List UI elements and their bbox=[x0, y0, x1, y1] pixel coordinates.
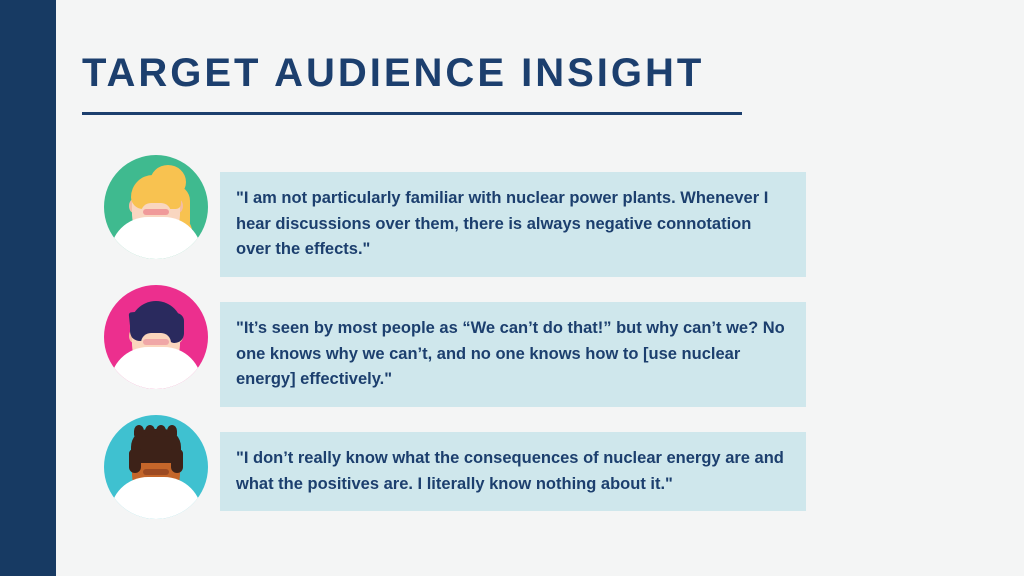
quote-text: "It’s seen by most people as “We can’t d… bbox=[236, 316, 790, 393]
quote-text: "I don’t really know what the consequenc… bbox=[236, 446, 790, 497]
avatar bbox=[104, 415, 208, 519]
hair-tuft-shape bbox=[145, 425, 155, 437]
quote-box: "I am not particularly familiar with nuc… bbox=[220, 172, 806, 277]
slide-canvas: TARGET AUDIENCE INSIGHT bbox=[0, 0, 1024, 576]
collar-shape bbox=[143, 339, 169, 345]
quote-box: "I don’t really know what the consequenc… bbox=[220, 432, 806, 511]
quote-row: "I am not particularly familiar with nuc… bbox=[0, 155, 1024, 285]
page-title: TARGET AUDIENCE INSIGHT bbox=[82, 52, 742, 94]
avatar bbox=[104, 155, 208, 259]
hair-tuft-shape bbox=[134, 425, 144, 437]
quote-list: "I am not particularly familiar with nuc… bbox=[0, 155, 1024, 545]
title-underline-rule bbox=[82, 112, 742, 115]
quote-box: "It’s seen by most people as “We can’t d… bbox=[220, 302, 806, 407]
quote-text: "I am not particularly familiar with nuc… bbox=[236, 186, 790, 263]
quote-row: "I don’t really know what the consequenc… bbox=[0, 415, 1024, 545]
avatar-dark-hair-woman-icon bbox=[104, 285, 208, 389]
shirt-shape bbox=[110, 347, 202, 389]
collar-shape bbox=[143, 209, 169, 215]
avatar bbox=[104, 285, 208, 389]
hair-side-shape bbox=[168, 313, 184, 343]
avatar-blonde-woman-icon bbox=[104, 155, 208, 259]
hair-tuft-shape bbox=[167, 425, 177, 437]
hair-side-left-shape bbox=[129, 449, 141, 473]
collar-shape bbox=[143, 469, 169, 475]
quote-row: "It’s seen by most people as “We can’t d… bbox=[0, 285, 1024, 415]
hair-tuft-shape bbox=[156, 425, 166, 437]
title-block: TARGET AUDIENCE INSIGHT bbox=[82, 52, 742, 115]
shirt-shape bbox=[110, 477, 202, 519]
avatar-dark-skin-man-icon bbox=[104, 415, 208, 519]
hair-side-right-shape bbox=[171, 449, 183, 473]
